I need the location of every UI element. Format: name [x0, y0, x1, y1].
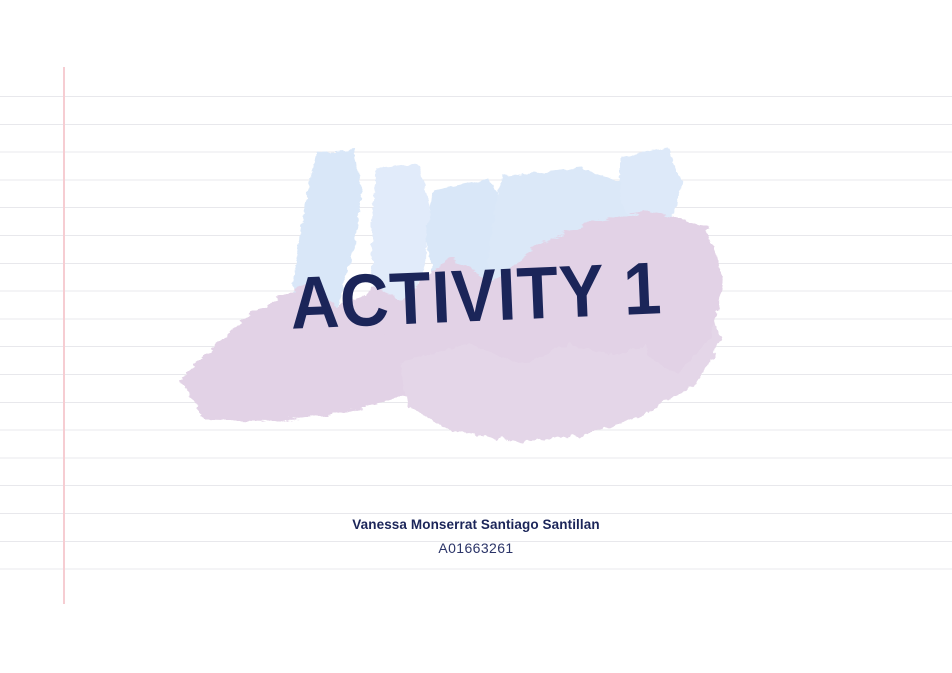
byline: Vanessa Monserrat Santiago Santillan A01… — [0, 515, 952, 559]
pink-brush-stroke-main — [180, 212, 716, 422]
blue-brush-stroke-4 — [488, 168, 670, 318]
author-name: Vanessa Monserrat Santiago Santillan — [0, 515, 952, 535]
blue-brush-stroke-1 — [291, 150, 362, 351]
page-title: ACTIVITY 1 — [0, 243, 952, 340]
pink-brush-stroke-tail — [642, 230, 724, 374]
pink-brush-stroke-tab — [308, 296, 386, 378]
title-slide: ACTIVITY 1 Vanessa Monserrat Santiago Sa… — [0, 0, 952, 673]
pink-brush-group — [180, 212, 716, 422]
blue-brush-stroke-2 — [372, 163, 430, 326]
blue-brush-stroke-3 — [426, 178, 522, 326]
blue-brush-stroke-5 — [620, 148, 682, 234]
brush-stroke-artwork — [150, 130, 760, 470]
notebook-ruled-lines — [0, 96, 952, 576]
title-text: ACTIVITY 1 — [289, 246, 664, 335]
title-artwork: ACTIVITY 1 — [286, 243, 666, 335]
pink-brush-group-lower — [308, 230, 724, 442]
student-id: A01663261 — [0, 537, 952, 559]
pink-brush-stroke-lower — [400, 312, 722, 442]
blue-brush-group — [291, 148, 682, 351]
